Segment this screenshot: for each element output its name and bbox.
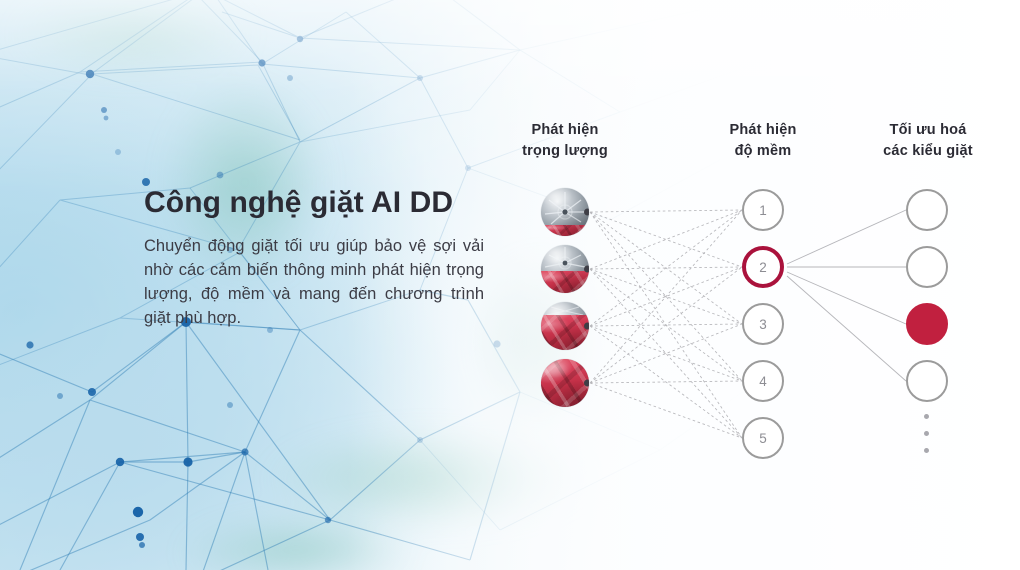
connector-port xyxy=(584,209,589,216)
heading-line-1: Tối ưu hoá xyxy=(853,120,1003,141)
drum-gloss xyxy=(541,245,589,293)
heading-line-1: Phát hiện xyxy=(490,120,640,141)
output-node-3-selected[interactable] xyxy=(906,303,948,345)
input-to-hidden-links xyxy=(590,210,742,438)
hidden-to-output-links xyxy=(787,210,906,381)
output-node-1[interactable] xyxy=(906,189,948,231)
hidden-node-2[interactable]: 2 xyxy=(742,246,784,288)
heading-line-2: độ mềm xyxy=(688,141,838,162)
connector-port xyxy=(584,266,589,273)
hidden-node-5[interactable]: 5 xyxy=(742,417,784,459)
column-heading-weight-detection: Phát hiện trọng lượng xyxy=(490,120,640,161)
diagram-connection-lines xyxy=(0,0,1020,570)
hidden-node-1[interactable]: 1 xyxy=(742,189,784,231)
heading-line-2: các kiểu giặt xyxy=(853,141,1003,162)
drum-gloss xyxy=(541,188,589,236)
input-node-load-3[interactable] xyxy=(541,302,589,350)
dot xyxy=(924,448,929,453)
connector-port xyxy=(584,380,589,387)
hidden-node-3[interactable]: 3 xyxy=(742,303,784,345)
output-node-4[interactable] xyxy=(906,360,948,402)
dot xyxy=(924,431,929,436)
heading-line-2: trọng lượng xyxy=(490,141,640,162)
input-node-load-1[interactable] xyxy=(541,188,589,236)
input-node-load-4[interactable] xyxy=(541,359,589,407)
output-overflow-dots-icon xyxy=(924,414,929,453)
dot xyxy=(924,414,929,419)
input-node-load-2[interactable] xyxy=(541,245,589,293)
connector-port xyxy=(584,323,589,330)
output-node-2[interactable] xyxy=(906,246,948,288)
hidden-node-4[interactable]: 4 xyxy=(742,360,784,402)
ai-dd-neural-diagram: Phát hiện trọng lượng Phát hiện độ mềm T… xyxy=(0,0,1020,570)
slide-canvas: Công nghệ giặt AI DD Chuyển động giặt tố… xyxy=(0,0,1020,570)
heading-line-1: Phát hiện xyxy=(688,120,838,141)
column-heading-softness-detection: Phát hiện độ mềm xyxy=(688,120,838,161)
drum-gloss xyxy=(541,302,589,350)
column-heading-wash-optimization: Tối ưu hoá các kiểu giặt xyxy=(853,120,1003,161)
drum-gloss xyxy=(541,359,589,407)
